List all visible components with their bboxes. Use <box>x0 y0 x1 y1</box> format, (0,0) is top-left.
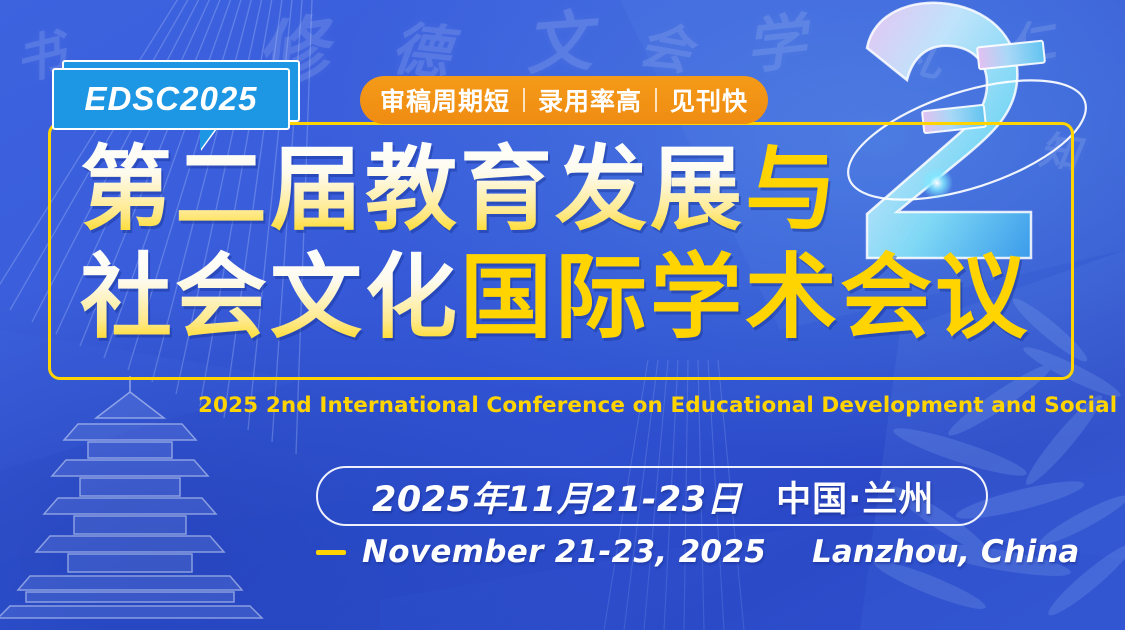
title-line-1-solid: 与 <box>745 136 840 243</box>
highlight-separator <box>655 88 657 112</box>
page-title: 第二届教育发展与 社会文化国际学术会议 <box>80 136 960 351</box>
calligraphy-glyph: 文 <box>522 0 595 88</box>
english-subtitle: 2025 2nd International Conference on Edu… <box>198 393 1125 418</box>
event-place-en: Lanzhou, China <box>812 534 1079 570</box>
event-date-bar: 2025年11月21-23日 中国·兰州 <box>316 466 988 526</box>
event-date-cn: 2025年11月21-23日 <box>372 471 742 522</box>
title-line-2-gradient: 社会文化 <box>80 244 460 351</box>
highlight-item-1: 审稿周期短 <box>380 82 510 118</box>
edsc-badge: EDSC2025 <box>52 68 290 130</box>
title-line-1-gradient: 第二届教育发展 <box>80 136 745 243</box>
event-date-en: November 21-23, 2025 <box>362 534 766 570</box>
highlights-pill: 审稿周期短 录用率高 见刊快 <box>360 76 768 124</box>
highlight-separator <box>523 88 525 112</box>
calligraphy-glyph: 学 <box>741 0 810 86</box>
calligraphy-glyph: 会 <box>634 2 698 85</box>
title-line-1: 第二届教育发展与 <box>80 136 960 244</box>
dash-icon <box>316 550 346 555</box>
highlight-item-3: 见刊快 <box>670 82 748 118</box>
conference-banner: 修 德 文 会 学 礼 仁 知 书 雅 <box>0 0 1125 630</box>
event-date-en-row: November 21-23, 2025 Lanzhou, China <box>316 534 1079 570</box>
event-place-cn: 中国·兰州 <box>776 471 934 522</box>
edsc-badge-label: EDSC2025 <box>84 80 257 118</box>
title-line-2-solid: 国际学术会议 <box>460 244 1030 351</box>
title-line-2: 社会文化国际学术会议 <box>80 244 960 352</box>
highlight-item-2: 录用率高 <box>538 82 642 118</box>
